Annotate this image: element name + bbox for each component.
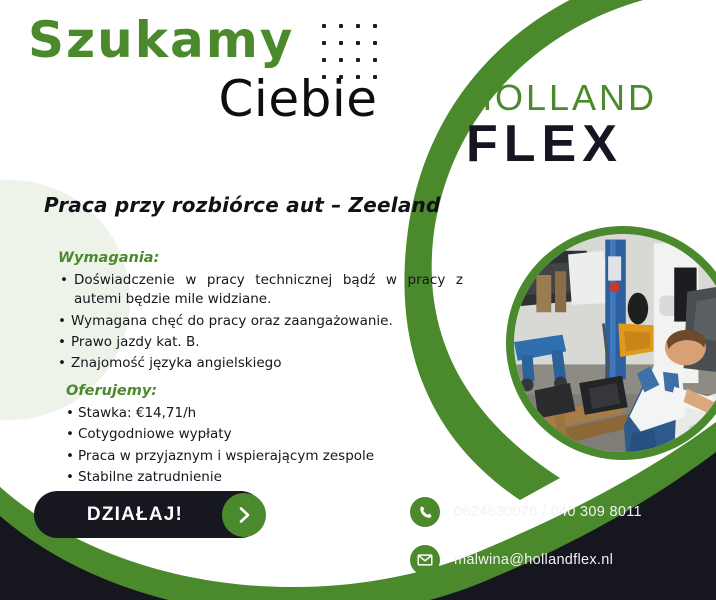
requirements-section: Wymagania: Doświadczenie w pracy technic… <box>58 250 463 375</box>
photo-circle-ring <box>506 226 716 460</box>
phone-number: 0624630076 / 040 309 8011 <box>454 504 642 520</box>
grid-dot <box>339 24 343 28</box>
grid-dot <box>322 75 326 79</box>
grid-dot <box>339 75 343 79</box>
grid-dot <box>373 75 377 79</box>
grid-dot <box>356 75 360 79</box>
grid-dot <box>339 58 343 62</box>
job-advert-poster: Szukamy Ciebie HOLLAND FLEX Praca przy r… <box>0 0 716 600</box>
phone-icon <box>410 497 440 527</box>
requirements-heading: Wymagania: <box>58 250 463 266</box>
company-logo: HOLLAND FLEX <box>466 80 696 170</box>
photo-area <box>506 226 716 476</box>
contact-email-row[interactable]: malwina@hollandflex.nl <box>410 545 710 575</box>
list-item: Stabilne zatrudnienie <box>58 468 418 487</box>
list-item: Wymagana chęć do pracy oraz zaangażowani… <box>58 312 463 331</box>
grid-dot <box>322 24 326 28</box>
offer-section: Oferujemy: Stawka: €14,71/h Cotygodniowe… <box>58 383 418 489</box>
grid-dot <box>356 58 360 62</box>
list-item: Znajomość języka angielskiego <box>58 354 463 373</box>
grid-dot <box>373 41 377 45</box>
job-title-subtitle: Praca przy rozbiórce aut – Zeeland <box>44 193 441 217</box>
list-item: Cotygodniowe wypłaty <box>58 425 418 444</box>
offer-list: Stawka: €14,71/h Cotygodniowe wypłaty Pr… <box>58 404 418 487</box>
list-item: Praca w przyjaznym i wspierającym zespol… <box>58 447 418 466</box>
grid-dot <box>322 41 326 45</box>
cta-button-label: DZIAŁAJ! <box>87 504 211 526</box>
list-item: Prawo jazdy kat. B. <box>58 333 463 352</box>
envelope-icon <box>410 545 440 575</box>
workshop-photo <box>514 234 716 452</box>
contact-phone-row[interactable]: 0624630076 / 040 309 8011 <box>410 497 710 527</box>
requirements-list: Doświadczenie w pracy technicznej bądź w… <box>58 271 463 373</box>
list-item: Stawka: €14,71/h <box>58 404 418 423</box>
grid-dot <box>339 41 343 45</box>
grid-dot <box>373 24 377 28</box>
grid-dot <box>373 58 377 62</box>
grid-dot <box>356 24 360 28</box>
email-address: malwina@hollandflex.nl <box>454 552 613 568</box>
list-item: Doświadczenie w pracy technicznej bądź w… <box>58 271 463 310</box>
contact-block: 0624630076 / 040 309 8011 malwina@hollan… <box>410 497 710 593</box>
logo-text-holland: HOLLAND <box>466 80 696 116</box>
grid-dot <box>356 41 360 45</box>
offer-heading: Oferujemy: <box>58 383 418 399</box>
chevron-right-icon[interactable] <box>222 493 266 537</box>
dot-grid-decoration <box>322 24 390 92</box>
logo-text-flex: FLEX <box>466 118 696 170</box>
grid-dot <box>322 58 326 62</box>
cta-button[interactable]: DZIAŁAJ! <box>34 491 264 538</box>
